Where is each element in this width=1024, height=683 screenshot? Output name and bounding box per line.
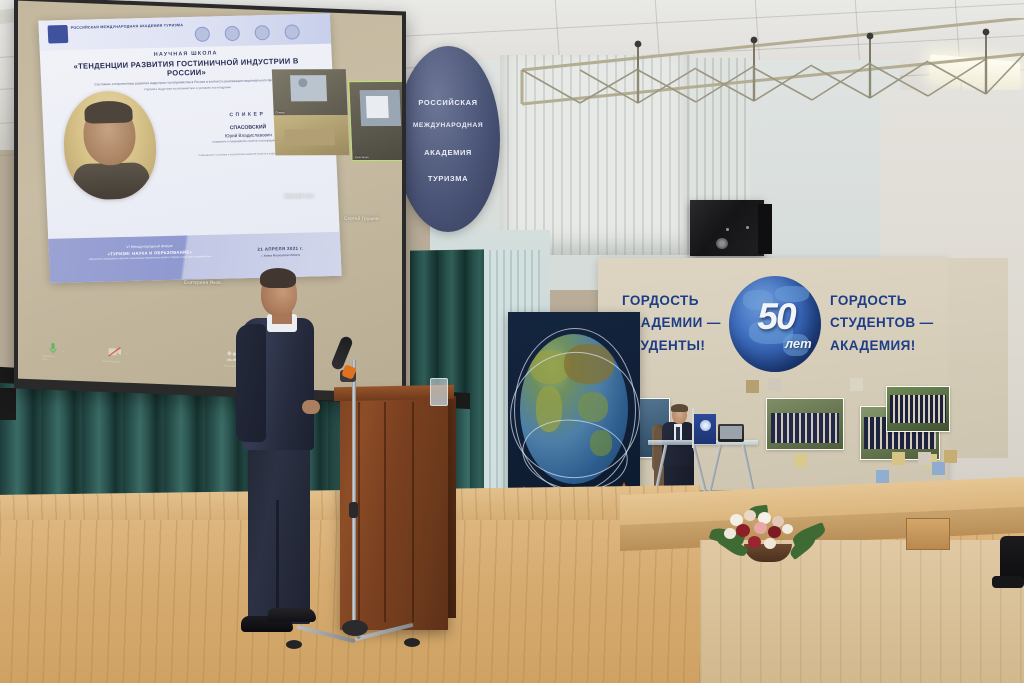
forum-place: г. Химки Московской области [235, 252, 327, 258]
zoom-participant-name-3: Екатерина Яков... [184, 280, 225, 285]
speaker-hair [260, 268, 296, 288]
wall-sign-line-1: РОССИЙСКАЯ [396, 98, 500, 107]
speaker-trouser-seam [276, 500, 279, 624]
banner-square-2 [768, 378, 781, 391]
seated-person-hair [671, 404, 688, 412]
video-chevron-icon[interactable]: ^ [126, 352, 128, 357]
banner-square-1 [746, 380, 759, 393]
microphone-caption: Выключить звук [42, 355, 58, 362]
participants-caption: Участники [224, 365, 235, 368]
academy-logo-icon [48, 25, 69, 44]
slide-footer-date-block: 21 АПРЕЛЯ 2021 г. г. Химки Московской об… [234, 245, 326, 258]
microphone-chevron-icon[interactable]: ^ [62, 349, 64, 354]
banner-square-5 [876, 470, 889, 483]
wall-sign-line-4: ТУРИЗМА [396, 174, 500, 183]
seated-person-tie [676, 427, 680, 441]
academy-wall-sign: РОССИЙСКАЯ МЕЖДУНАРОДНАЯ АКАДЕМИЯ ТУРИЗМ… [396, 46, 500, 232]
loudspeaker-led-2 [746, 226, 749, 229]
slide-footer: VI Международный форум «ТУРИЗМ: НАУКА И … [48, 232, 341, 283]
zoom-participant-name-1: Арсений Р.М. [284, 193, 315, 198]
microphone-height-knob[interactable] [349, 502, 358, 518]
wall-sign-line-3: АКАДЕМИЯ [396, 148, 500, 157]
loudspeaker-side [758, 204, 772, 254]
anniversary-number: 50 [738, 298, 814, 335]
zoom-participant-name-2: Сергей Грушев [344, 216, 379, 221]
banner-square-4 [850, 378, 863, 391]
zoom-tile-2[interactable] [274, 115, 350, 155]
zoom-tile-1-label: Спикер [276, 111, 285, 114]
water-glass [430, 378, 448, 406]
banner-square-8 [918, 452, 931, 465]
banner-square-3 [794, 454, 807, 467]
wall-sign-line-2: МЕЖДУНАРОДНАЯ [396, 122, 500, 129]
mic-stand-foot-1 [286, 640, 302, 649]
chair-corner-seat [992, 576, 1024, 588]
flag-emblem-icon [700, 420, 711, 431]
globe-banner-display [508, 312, 640, 510]
banner-photo-class [886, 386, 950, 432]
video-caption: Включить видео [102, 360, 120, 364]
loudspeaker-led [726, 228, 729, 231]
left-edge-object [0, 388, 16, 420]
speaker-legs [248, 442, 310, 624]
zoom-tile-1[interactable]: Спикер [272, 69, 348, 115]
microphone-icon[interactable]: Выключить звук [48, 342, 58, 360]
portrait-hair [84, 101, 133, 124]
banner-square-10 [944, 450, 957, 463]
ceiling-truss [520, 18, 1024, 123]
speaker-arm [236, 324, 266, 442]
portrait-body [73, 162, 151, 200]
banner-photo-students [766, 398, 844, 450]
projection-screen: РОССИЙСКАЯ МЕЖДУНАРОДНАЯ АКАДЕМИЯ ТУРИЗМ… [18, 1, 402, 394]
wooden-box [906, 518, 950, 550]
laptop-screen [720, 426, 742, 439]
speaker-portrait [62, 90, 159, 200]
video-off-icon[interactable]: Включить видео [108, 344, 122, 363]
banner-square-9 [932, 462, 945, 475]
banner-right-extension [948, 258, 1008, 458]
anniversary-word: лет [785, 336, 812, 351]
forum-date: 21 АПРЕЛЯ 2021 г. [234, 245, 326, 252]
chair-corner [1000, 536, 1024, 580]
loudspeaker-driver [716, 238, 728, 249]
banner-right-text: ГОРДОСТЬ СТУДЕНТОВ — АКАДЕМИЯ! [830, 290, 942, 357]
slide-footer-forum: VI Международный форум «ТУРИЗМ: НАУКА И … [75, 243, 225, 263]
conference-hall-photo: РОССИЙСКАЯ МЕЖДУНАРОДНАЯ АКАДЕМИЯ ТУРИЗМ… [0, 0, 1024, 683]
zoom-video-grid: Спикер Zoom Room [272, 69, 402, 178]
mic-stand-foot-2 [404, 638, 420, 647]
speaker-hands [302, 400, 320, 414]
microphone-stand-pole [352, 360, 356, 628]
zoom-tile-active-label: Zoom Room [354, 156, 368, 159]
speaker-shoe-right [268, 608, 316, 622]
floral-arrangement [708, 500, 828, 562]
mic-stand-hub [342, 620, 368, 636]
banner-square-7 [892, 452, 905, 465]
zoom-tile-active[interactable]: Zoom Room [348, 81, 402, 161]
